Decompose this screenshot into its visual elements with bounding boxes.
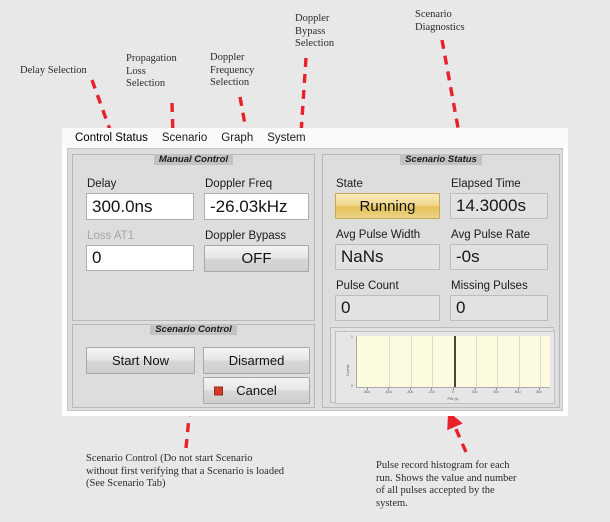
doppler-freq-input[interactable]: -26.03kHz — [204, 193, 309, 220]
application-window: Control Status Scenario Graph System Man… — [62, 128, 568, 416]
disarmed-button[interactable]: Disarmed — [203, 347, 310, 374]
state-indicator[interactable]: Running — [335, 193, 440, 219]
cancel-button[interactable]: Cancel — [203, 377, 310, 404]
histogram-marker-line — [454, 336, 456, 387]
manual-control-title: Manual Control — [73, 154, 314, 165]
cancel-button-label: Cancel — [236, 383, 276, 398]
histogram-gridline — [476, 336, 477, 387]
histogram-gridline — [497, 336, 498, 387]
cancel-stop-icon — [214, 386, 223, 395]
annotation-scenario-diagnostics: Scenario Diagnostics — [415, 9, 465, 34]
histogram-x-tick-label: -20u — [428, 390, 435, 394]
histogram-gridline — [432, 336, 433, 387]
histogram-x-tick-label: 20u — [472, 390, 478, 394]
histogram-gridline — [519, 336, 520, 387]
histogram-y-axis-label: Counts — [346, 365, 350, 376]
annotation-delay-selection: Delay Selection — [20, 65, 87, 78]
annotation-doppler-bypass: Doppler Bypass Selection — [295, 13, 334, 51]
scenario-status-title: Scenario Status — [323, 154, 559, 165]
histogram-x-tick-label: 80u — [536, 390, 542, 394]
annotation-histogram-note: Pulse record histogram for each run. Sho… — [376, 460, 517, 510]
avg-pulse-width-label: Avg Pulse Width — [336, 229, 420, 241]
missing-pulses-value: 0 — [450, 295, 548, 321]
scenario-control-group: Scenario Control Start Now Disarmed Canc… — [72, 324, 315, 408]
annotation-propagation-loss: Propagation Loss Selection — [126, 53, 177, 91]
control-status-panel: Manual Control Delay 300.0ns Loss AT1 0 … — [67, 148, 563, 411]
doppler-bypass-toggle[interactable]: OFF — [204, 245, 309, 272]
scenario-control-title: Scenario Control — [73, 324, 314, 335]
avg-pulse-width-value: NaNs — [335, 244, 440, 270]
delay-input[interactable]: 300.0ns — [86, 193, 194, 220]
avg-pulse-rate-value: -0s — [450, 244, 548, 270]
elapsed-time-value: 14.3000s — [450, 193, 548, 219]
tab-bar: Control Status Scenario Graph System — [62, 128, 568, 148]
pulse-count-label: Pulse Count — [336, 280, 399, 292]
histogram-plot-frame: Counts PW (s) -80u-60u-40u-20u020u40u60u… — [335, 331, 555, 404]
histogram-y-tick-label: 0 — [351, 384, 353, 388]
state-label: State — [336, 178, 363, 190]
annotation-scenario-control-note: Scenario Control (Do not start Scenario … — [86, 453, 284, 491]
tab-control-status[interactable]: Control Status — [68, 132, 155, 144]
annotation-doppler-frequency: Doppler Frequency Selection — [210, 52, 254, 90]
elapsed-time-label: Elapsed Time — [451, 178, 521, 190]
histogram-plot-area — [356, 336, 550, 388]
loss-at1-input[interactable]: 0 — [86, 245, 194, 271]
histogram-x-tick-label: -60u — [385, 390, 392, 394]
avg-pulse-rate-label: Avg Pulse Rate — [451, 229, 530, 241]
histogram-x-tick-label: 40u — [493, 390, 499, 394]
histogram-gridline — [411, 336, 412, 387]
doppler-bypass-label: Doppler Bypass — [205, 230, 286, 242]
histogram-x-tick-label: -80u — [363, 390, 370, 394]
manual-control-group: Manual Control Delay 300.0ns Loss AT1 0 … — [72, 154, 315, 321]
histogram-y-tick-label: 1 — [351, 335, 353, 339]
histogram-x-axis-label: PW (s) — [448, 397, 459, 401]
missing-pulses-label: Missing Pulses — [451, 280, 528, 292]
tab-graph[interactable]: Graph — [214, 132, 260, 144]
histogram-x-tick-label: 60u — [515, 390, 521, 394]
scenario-status-group: Scenario Status State Running Elapsed Ti… — [322, 154, 560, 408]
start-now-button[interactable]: Start Now — [86, 347, 195, 374]
pulse-histogram[interactable]: Counts PW (s) -80u-60u-40u-20u020u40u60u… — [330, 327, 554, 403]
loss-at1-label: Loss AT1 — [87, 230, 134, 242]
delay-label: Delay — [87, 178, 116, 190]
tab-scenario[interactable]: Scenario — [155, 132, 214, 144]
histogram-x-tick-label: 0 — [452, 390, 454, 394]
histogram-gridline — [540, 336, 541, 387]
histogram-gridline — [389, 336, 390, 387]
pulse-count-value: 0 — [335, 295, 440, 321]
tab-system[interactable]: System — [260, 132, 312, 144]
histogram-x-tick-label: -40u — [406, 390, 413, 394]
doppler-freq-label: Doppler Freq — [205, 178, 272, 190]
